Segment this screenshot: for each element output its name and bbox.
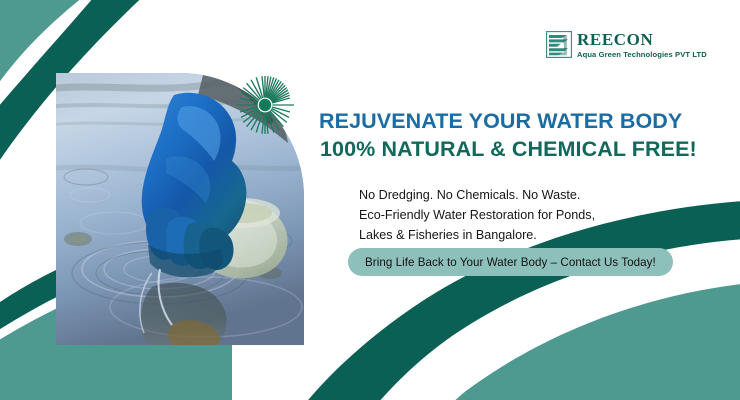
- headline: REJUVENATE YOUR WATER BODY 100% NATURAL …: [319, 108, 719, 163]
- headline-line-2: 100% NATURAL & CHEMICAL FREE!: [320, 136, 719, 164]
- reecon-wave-mark-icon: [546, 31, 572, 58]
- headline-line-1: REJUVENATE YOUR WATER BODY: [319, 108, 719, 136]
- reecon-logo-text: REECON Aqua Green Technologies PVT LTD: [577, 31, 707, 58]
- brand-tagline: Aqua Green Technologies PVT LTD: [577, 51, 707, 59]
- promo-banner: REECON Aqua Green Technologies PVT LTD R…: [0, 0, 740, 400]
- body-line-1: No Dredging. No Chemicals. No Waste.: [359, 186, 719, 206]
- bottom-right-sage-fill: [446, 282, 740, 400]
- body-line-2: Eco-Friendly Water Restoration for Ponds…: [359, 206, 719, 226]
- body-line-3: Lakes & Fisheries in Bangalore.: [359, 226, 719, 246]
- brand-name: REECON: [577, 31, 707, 48]
- contact-us-cta-button[interactable]: Bring Life Back to Your Water Body – Con…: [348, 248, 673, 276]
- copy-block: REJUVENATE YOUR WATER BODY 100% NATURAL …: [319, 108, 719, 163]
- radial-sunburst-icon: [234, 74, 296, 136]
- body-copy: No Dredging. No Chemicals. No Waste. Eco…: [359, 186, 719, 246]
- reecon-logo[interactable]: REECON Aqua Green Technologies PVT LTD: [546, 31, 707, 58]
